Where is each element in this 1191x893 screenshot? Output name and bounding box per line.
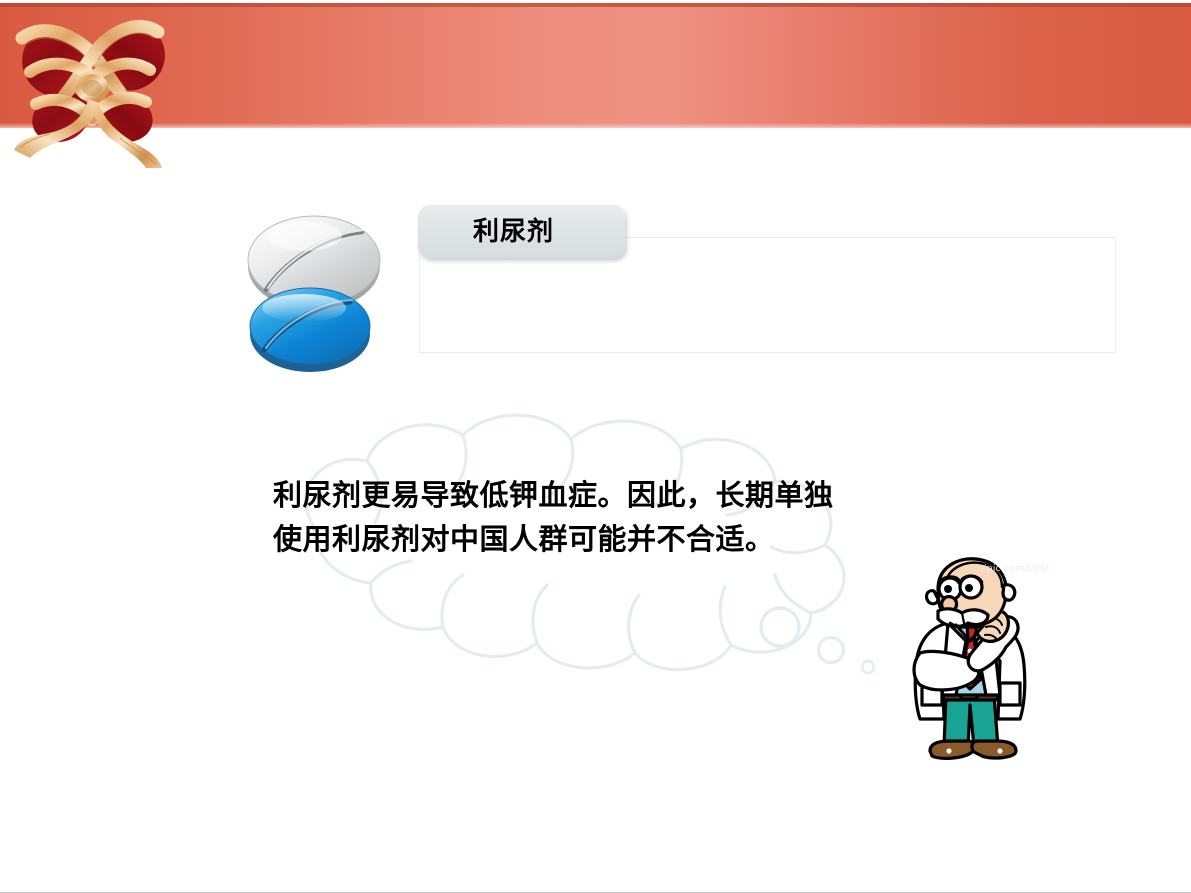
section-title-label: 利尿剂 (473, 219, 554, 245)
ribbon-bow-icon (0, 8, 200, 173)
section-title-chip[interactable]: 利尿剂 (418, 205, 625, 258)
thought-trail-bubbles (755, 605, 895, 679)
banner-top-edge (0, 3, 1191, 7)
image-watermark: nipic.com/LOSt (978, 564, 1050, 574)
thinking-doctor-illustration (890, 555, 1050, 775)
thought-line-2: 使用利尿剂对中国人群可能并不合适。 (273, 517, 863, 561)
thought-line-1: 利尿剂更易导致低钾血症。因此，长期单独 (273, 473, 863, 517)
slide-canvas: 利尿剂 利尿剂更易导致低钾血症。因此， (0, 0, 1191, 893)
two-tablets-icon (238, 198, 418, 388)
thought-text: 利尿剂更易导致低钾血症。因此，长期单独 使用利尿剂对中国人群可能并不合适。 (273, 473, 863, 561)
